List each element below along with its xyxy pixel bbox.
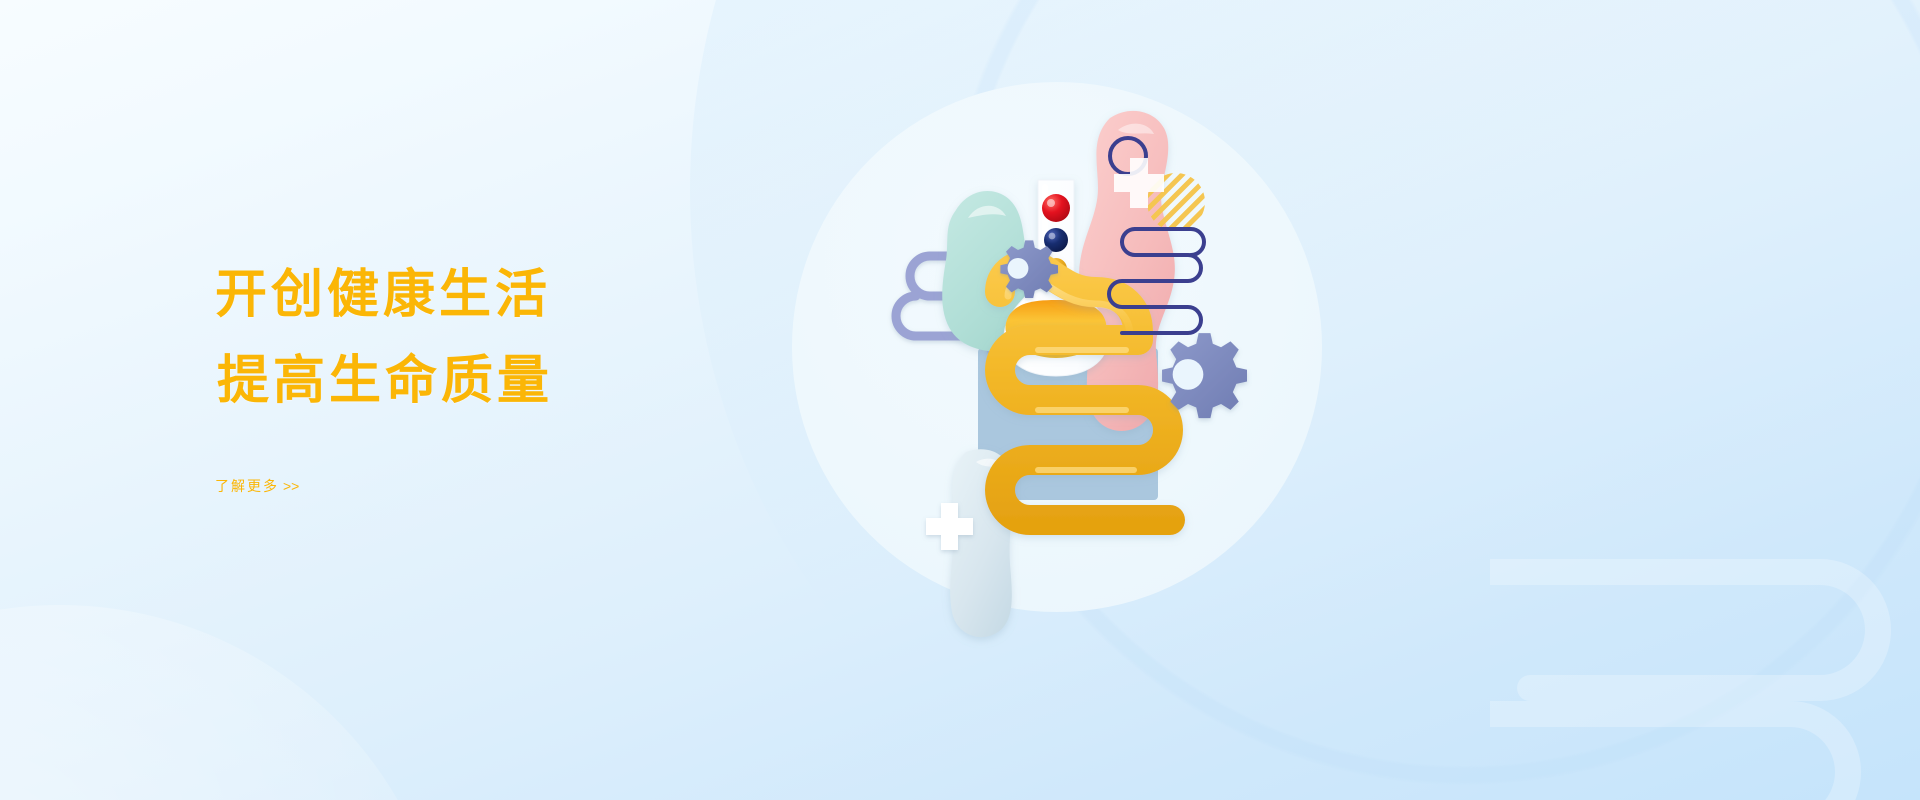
headline-line-2: 提高生命质量 bbox=[215, 338, 835, 424]
illustration-svg bbox=[770, 60, 1330, 720]
headline-line-1: 开创健康生活 bbox=[215, 252, 835, 338]
hero-illustration bbox=[770, 60, 1330, 720]
chevron-right-icon: >> bbox=[283, 478, 299, 494]
gear-large-icon bbox=[1162, 333, 1247, 418]
learn-more-link[interactable]: 了解更多>> bbox=[215, 476, 299, 496]
gear-small-icon bbox=[1000, 240, 1058, 298]
pill-red bbox=[1042, 194, 1070, 222]
background-circle-bottom-left bbox=[0, 605, 450, 800]
learn-more-label: 了解更多 bbox=[215, 478, 279, 494]
pink-organ-shape bbox=[1079, 111, 1175, 431]
hero-copy: 开创健康生活 提高生命质量 了解更多>> bbox=[215, 252, 835, 496]
background-intestine-watermark bbox=[1490, 536, 1920, 800]
hero-banner: 开创健康生活 提高生命质量 了解更多>> bbox=[0, 0, 1920, 800]
